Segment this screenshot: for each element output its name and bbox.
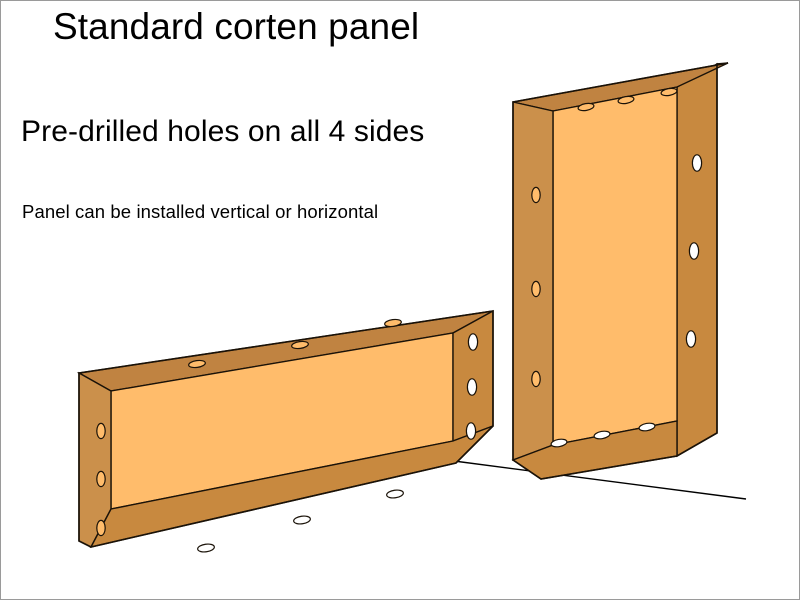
- hole-vertical-left-3: [532, 371, 540, 386]
- hole-horizontal-bottom-1: [197, 543, 215, 553]
- hole-vertical-left-1: [532, 187, 540, 202]
- slide-canvas: Standard corten panel Pre-drilled holes …: [0, 0, 800, 600]
- hole-horizontal-bottom-2: [293, 515, 311, 525]
- panel-illustration: [1, 1, 800, 600]
- horizontal-panel-right-edge-face: [453, 311, 493, 441]
- vertical-panel: [513, 63, 728, 479]
- hole-vertical-left-2: [532, 281, 540, 296]
- hole-horizontal-bottom-3: [386, 489, 404, 499]
- vertical-panel-front-face: [553, 87, 677, 445]
- horizontal-panel: [79, 311, 493, 553]
- hole-vertical-right-3: [686, 331, 695, 347]
- hole-horizontal-right-1: [468, 334, 477, 350]
- hole-vertical-right-1: [692, 155, 701, 171]
- vertical-panel-left-edge-face: [513, 102, 553, 460]
- hole-horizontal-right-2: [467, 379, 476, 395]
- hole-horizontal-left-1: [97, 423, 105, 438]
- hole-horizontal-right-3: [466, 423, 475, 439]
- hole-vertical-right-2: [689, 243, 698, 259]
- hole-horizontal-left-3: [97, 520, 105, 535]
- hole-horizontal-left-2: [97, 471, 105, 486]
- vertical-panel-right-edge-face: [677, 64, 717, 456]
